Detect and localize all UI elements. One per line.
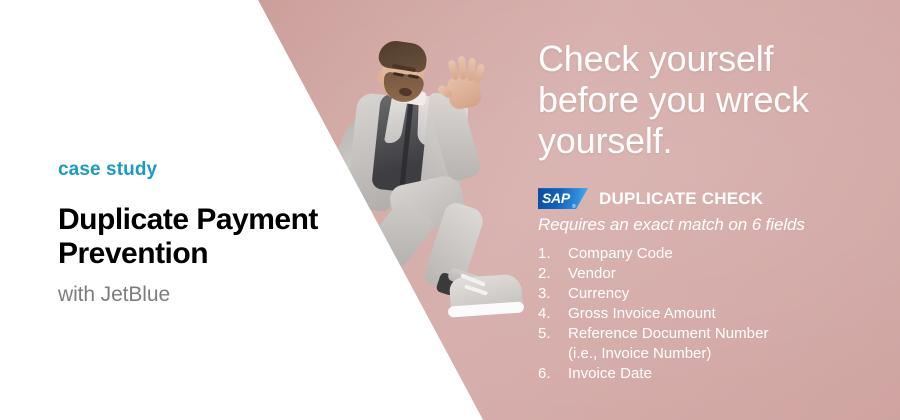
sap-logo-wordmark: SAP bbox=[542, 190, 570, 207]
case-study-banner: case study Duplicate Payment Prevention … bbox=[0, 0, 900, 420]
page-subtitle: with JetBlue bbox=[58, 282, 388, 307]
hero-headline-line-2: before you wreck bbox=[538, 79, 883, 120]
eyebrow-label: case study bbox=[58, 160, 388, 181]
list-item-number: 3. bbox=[538, 284, 568, 304]
list-item-label: Reference Document Number bbox=[568, 324, 883, 344]
list-item-label: Invoice Date bbox=[568, 364, 883, 384]
list-item-number: 2. bbox=[538, 264, 568, 284]
page-title-line-2: Prevention bbox=[58, 237, 388, 271]
photo-finger-4 bbox=[474, 63, 485, 83]
list-item: 1. Company Code bbox=[538, 244, 883, 264]
list-item-continuation: (i.e., Invoice Number) bbox=[538, 344, 883, 364]
list-item: 4. Gross Invoice Amount bbox=[538, 304, 883, 324]
list-item-number: 6. bbox=[538, 364, 568, 384]
list-item: 3. Currency bbox=[538, 284, 883, 304]
list-item-label: Vendor bbox=[568, 264, 883, 284]
list-item-number: 4. bbox=[538, 304, 568, 324]
list-item: 5. Reference Document Number bbox=[538, 324, 883, 344]
hero-headline-line-3: yourself. bbox=[538, 120, 883, 161]
list-item: 6. Invoice Date bbox=[538, 364, 883, 384]
list-item: 2. Vendor bbox=[538, 264, 883, 284]
list-item-number: 1. bbox=[538, 244, 568, 264]
sap-logo-icon: SAP ® bbox=[538, 188, 588, 209]
list-item-number: 5. bbox=[538, 324, 568, 344]
right-text-column: Check yourself before you wreck yourself… bbox=[538, 38, 883, 384]
registered-trademark-icon: ® bbox=[572, 204, 576, 210]
left-text-column: case study Duplicate Payment Prevention … bbox=[58, 160, 388, 307]
hero-headline: Check yourself before you wreck yourself… bbox=[538, 38, 883, 161]
product-subtitle: Requires an exact match on 6 fields bbox=[538, 215, 883, 235]
page-title-line-1: Duplicate Payment bbox=[58, 203, 388, 237]
list-item-label: Gross Invoice Amount bbox=[568, 304, 883, 324]
photo-finger-2 bbox=[458, 56, 467, 81]
product-title: DUPLICATE CHECK bbox=[599, 189, 763, 209]
list-item-label: Currency bbox=[568, 284, 883, 304]
required-fields-list: 1. Company Code 2. Vendor 3. Currency 4.… bbox=[538, 244, 883, 384]
sap-product-row: SAP ® DUPLICATE CHECK bbox=[538, 188, 883, 209]
hero-headline-line-1: Check yourself bbox=[538, 38, 883, 79]
page-title: Duplicate Payment Prevention bbox=[58, 203, 388, 271]
list-item-label: Company Code bbox=[568, 244, 883, 264]
